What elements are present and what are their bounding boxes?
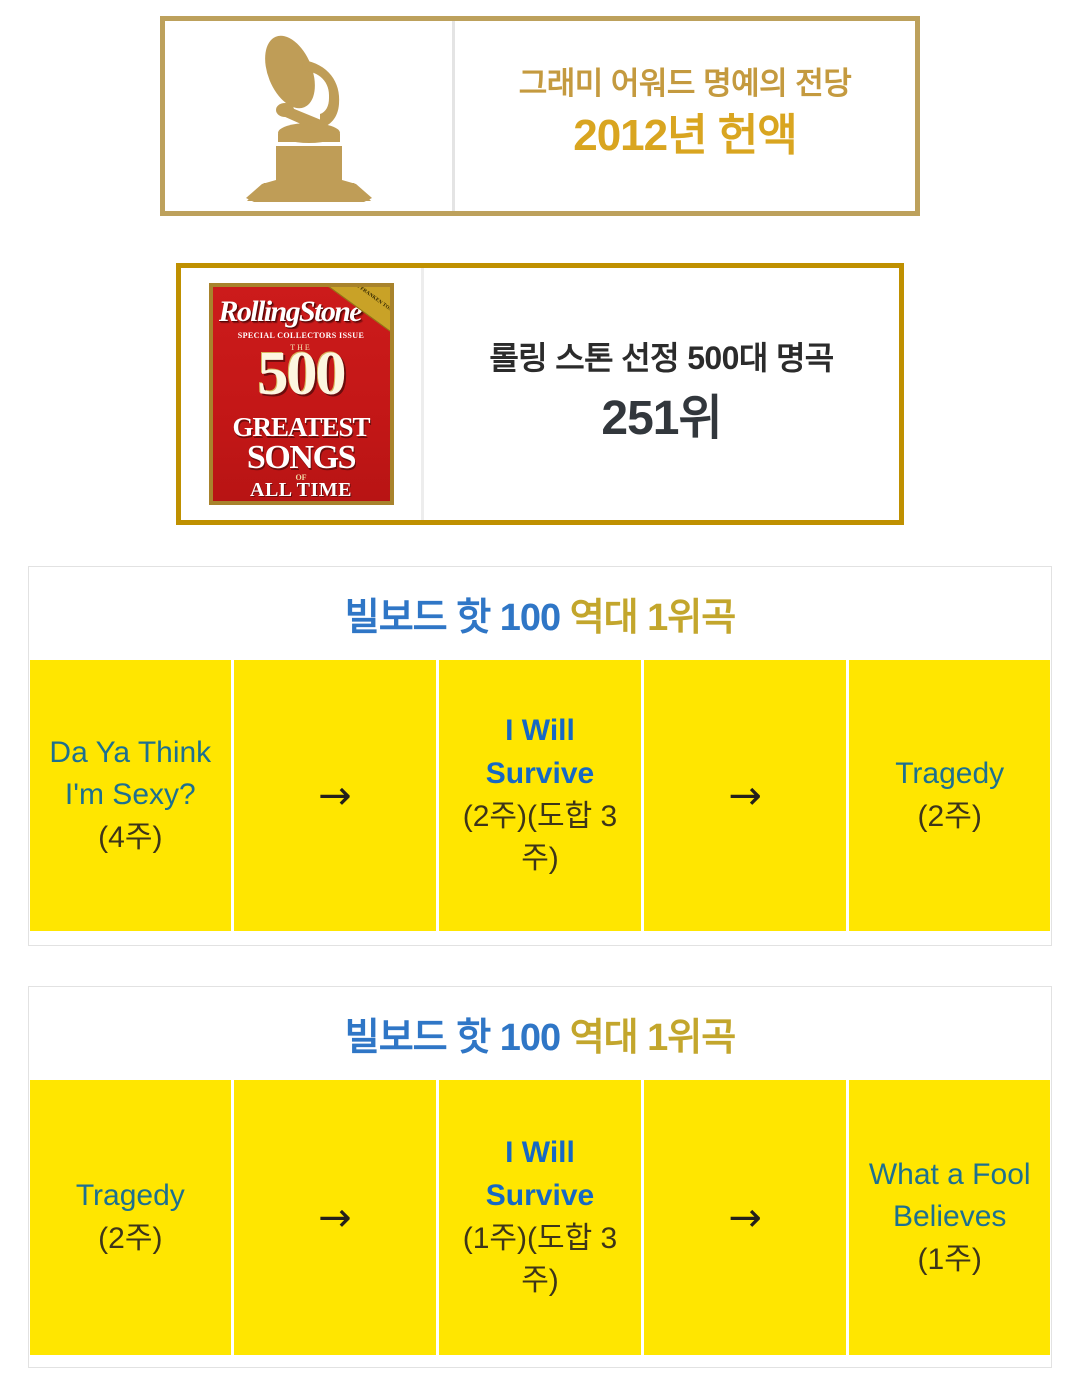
billboard-next-song-cell[interactable]: Tragedy (2주) [849,660,1050,931]
billboard-table-1-title: 빌보드 핫 100 역대 1위곡 [345,586,735,641]
song-weeks-label: (2주) [98,1218,162,1261]
billboard-hot-100-table-1: 빌보드 핫 100 역대 1위곡 Da Ya Think I'm Sexy? (… [28,566,1052,946]
arrow-right-icon: → [318,1198,352,1238]
rolling-stone-text-cell: 롤링 스톤 선정 500대 명곡 251위 [424,268,899,520]
billboard-current-song-cell[interactable]: I Will Survive (2주)(도합 3주) [439,660,641,931]
song-title-link[interactable]: Tragedy [895,753,1004,796]
billboard-table-2-row: Tragedy (2주) → I Will Survive (1주)(도합 3주… [29,1080,1051,1356]
song-weeks-label: (1주) [918,1239,982,1282]
billboard-table-2-header: 빌보드 핫 100 역대 1위곡 [29,987,1051,1080]
grammy-text-cell: 그래미 어워드 명예의 전당 2012년 헌액 [455,21,915,211]
song-title-link-current[interactable]: I Will Survive [449,1132,631,1217]
billboard-current-song-cell[interactable]: I Will Survive (1주)(도합 3주) [439,1080,641,1355]
billboard-next-song-cell[interactable]: What a Fool Believes (1주) [849,1080,1050,1355]
song-weeks-label: (2주)(도합 3주) [449,796,631,881]
song-title-link[interactable]: Tragedy [76,1175,185,1218]
arrow-right-icon: → [318,776,352,816]
rolling-stone-cover-cell: RollingStone JON STEWART AL FRANKEN TOM … [181,268,424,520]
song-title-link[interactable]: Da Ya Think I'm Sexy? [40,732,221,817]
song-weeks-label: (4주) [98,817,162,860]
song-weeks-label: (2주) [918,796,982,839]
billboard-arrow-cell-left: → [234,660,437,931]
billboard-table-1-header: 빌보드 핫 100 역대 1위곡 [29,567,1051,660]
arrow-right-icon: → [728,776,762,816]
rolling-stone-rank: 251위 [601,387,721,452]
song-title-link[interactable]: What a Fool Believes [859,1154,1040,1239]
rolling-stone-list-label: 롤링 스톤 선정 500대 명곡 [489,336,833,381]
arrow-right-icon: → [728,1198,762,1238]
billboard-arrow-cell-right: → [644,1080,847,1355]
song-title-link-current[interactable]: I Will Survive [449,710,631,795]
song-weeks-label: (1주)(도합 3주) [449,1218,631,1303]
grammy-icon-cell [165,21,455,211]
billboard-arrow-cell-left: → [234,1080,437,1355]
billboard-table-2-title: 빌보드 핫 100 역대 1위곡 [345,1006,735,1061]
billboard-title-chart-part: 빌보드 핫 100 [345,1017,570,1059]
cover-songs-label: SONGS [213,439,390,477]
grammy-hall-of-fame-label: 그래미 어워드 명예의 전당 [519,63,852,105]
billboard-title-chart-part: 빌보드 핫 100 [345,597,570,639]
billboard-title-rank-part: 역대 1위곡 [570,597,736,639]
rolling-stone-magazine-cover-image: RollingStone JON STEWART AL FRANKEN TOM … [209,283,394,505]
billboard-table-1-row: Da Ya Think I'm Sexy? (4주) → I Will Surv… [29,660,1051,932]
billboard-prev-song-cell[interactable]: Da Ya Think I'm Sexy? (4주) [30,660,231,931]
billboard-prev-song-cell[interactable]: Tragedy (2주) [30,1080,231,1355]
billboard-hot-100-table-2: 빌보드 핫 100 역대 1위곡 Tragedy (2주) → I Will S… [28,986,1052,1368]
grammy-induction-year: 2012년 헌액 [573,107,797,164]
grammy-gramophone-icon [240,30,378,202]
rolling-stone-500-box: RollingStone JON STEWART AL FRANKEN TOM … [176,263,904,525]
cover-all-time-label: ALL TIME [213,479,390,502]
billboard-arrow-cell-right: → [644,660,847,931]
cover-special-issue-label: SPECIAL COLLECTORS ISSUE [213,331,390,340]
billboard-title-rank-part: 역대 1위곡 [570,1017,736,1059]
cover-number-500: 500 [213,345,390,404]
grammy-hall-of-fame-box: 그래미 어워드 명예의 전당 2012년 헌액 [160,16,920,216]
